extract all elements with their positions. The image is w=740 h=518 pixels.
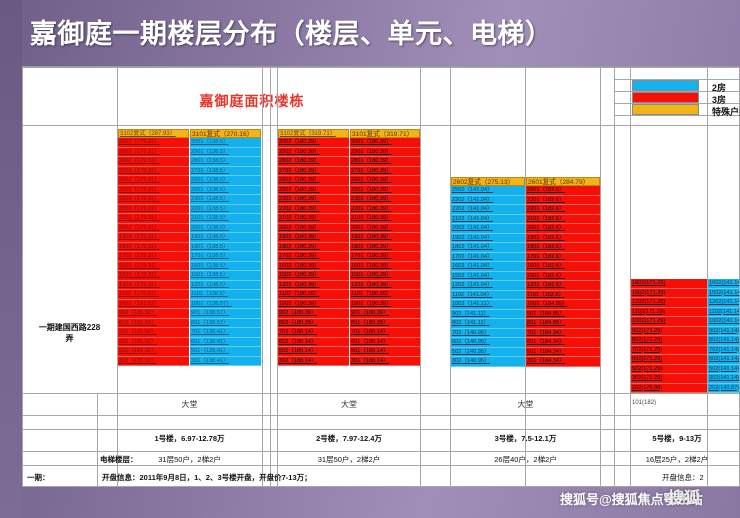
lobby-label-b3: 大堂 bbox=[451, 399, 600, 410]
unit-cell[interactable]: 2702（179.31） bbox=[118, 167, 189, 177]
unit-cell[interactable]: 2801（180.39） bbox=[350, 157, 420, 167]
unit-cell[interactable]: 1002（181.52） bbox=[118, 300, 189, 310]
unit-cell[interactable]: 1002(171.29) bbox=[631, 317, 707, 327]
unit-cell[interactable]: 501（184.34） bbox=[526, 348, 600, 358]
unit-cell[interactable]: 601（138.41） bbox=[190, 338, 261, 348]
unit-cell[interactable]: 2502（180.39） bbox=[278, 186, 349, 196]
unit-cell[interactable]: 1101（182.6） bbox=[526, 291, 600, 301]
unit-cell[interactable]: 602（180.14） bbox=[278, 338, 349, 348]
unit-cell[interactable]: 1002(141.14) bbox=[708, 317, 739, 327]
legend-swatch-2fang bbox=[632, 80, 699, 91]
unit-cell[interactable]: 902（180.39） bbox=[278, 309, 349, 319]
unit-cell[interactable]: 2202（180.39） bbox=[278, 205, 349, 215]
unit-cell[interactable]: 1602（141.04） bbox=[451, 262, 525, 272]
unit-cell-list: 3001（138.5）2901（138.5）2801（138.5）2701（13… bbox=[190, 138, 261, 366]
unit-column-b4-left[interactable]: 1601(171.29)1502(171.29)1202(171.29)1102… bbox=[631, 279, 707, 393]
unit-cell[interactable]: 1102（141.04） bbox=[451, 291, 525, 301]
unit-cell[interactable]: 1502(171.29) bbox=[631, 289, 707, 299]
unit-cell[interactable]: 1201（182.6） bbox=[526, 281, 600, 291]
legend-swatch-special bbox=[632, 104, 699, 115]
unit-cell[interactable]: 1902（141.04） bbox=[451, 234, 525, 244]
grid-hline bbox=[22, 393, 740, 394]
unit-cell[interactable]: 1802（141.04） bbox=[451, 243, 525, 253]
unit-cell-list: 3002（179.31）2902（179.31）2802（179.31）2702… bbox=[118, 138, 189, 366]
legend-swatch-3fang bbox=[632, 92, 699, 103]
unit-cell[interactable]: 802（181.52） bbox=[118, 319, 189, 329]
footer-building-5-detail: 16层25户，2梯2户 bbox=[615, 454, 739, 465]
unit-cell[interactable]: 902（141.11） bbox=[451, 310, 525, 320]
unit-cell[interactable]: 301（184.34） bbox=[526, 357, 600, 367]
unit-cell[interactable]: 2001（180.39） bbox=[350, 224, 420, 234]
unit-cell[interactable]: 1001（184.85） bbox=[526, 300, 600, 310]
unit-cell[interactable]: 2902（180.39） bbox=[278, 148, 349, 158]
unit-cell[interactable]: 802（180.39） bbox=[278, 319, 349, 329]
unit-column-header: 3101复式（319.71） bbox=[350, 129, 420, 138]
unit-cell[interactable]: 2302（141.04） bbox=[451, 196, 525, 206]
unit-cell[interactable]: 501（138.41） bbox=[190, 347, 261, 357]
unit-cell[interactable]: 1602（180.39） bbox=[278, 262, 349, 272]
unit-cell[interactable]: 2501（180.39） bbox=[350, 186, 420, 196]
unit-cell[interactable]: 2102（180.39） bbox=[278, 214, 349, 224]
grid-vline bbox=[97, 393, 98, 487]
unit-cell[interactable]: 701（184.34） bbox=[526, 329, 600, 339]
unit-cell[interactable]: 1601（138.5） bbox=[190, 262, 261, 272]
unit-cell[interactable]: 601（184.34） bbox=[526, 338, 600, 348]
footer-building-3-name: 3号楼，7.5-12.1万 bbox=[451, 433, 600, 444]
unit-cell[interactable]: 2101（180.39） bbox=[350, 214, 420, 224]
unit-column-b3-left[interactable]: 2602复式（275.13） 2502（141.04）2302（141.04）2… bbox=[451, 177, 525, 367]
unit-cell-list: 2502（141.04）2302（141.04）2202（141.04）2102… bbox=[451, 186, 525, 367]
unit-cell[interactable]: 1102（179.31） bbox=[118, 290, 189, 300]
unit-column-b2-right[interactable]: 3101复式（319.71） 3001（180.39）2901（180.39）2… bbox=[350, 129, 420, 366]
unit-cell[interactable]: 1202（141.04） bbox=[451, 281, 525, 291]
unit-cell[interactable]: 1501（182.6） bbox=[526, 272, 600, 282]
unit-cell[interactable]: 1501（138.5） bbox=[190, 271, 261, 281]
unit-cell[interactable]: 2701（180.39） bbox=[350, 167, 420, 177]
unit-cell[interactable]: 702(141.14) bbox=[708, 346, 739, 356]
unit-cell[interactable]: 1602（179.31） bbox=[118, 262, 189, 272]
unit-cell[interactable]: 1601（180.39） bbox=[350, 262, 420, 272]
unit-cell[interactable]: 301（180.14） bbox=[350, 357, 420, 367]
unit-cell[interactable]: 1801（182.6） bbox=[526, 243, 600, 253]
unit-cell[interactable]: 502(171.29) bbox=[631, 365, 707, 375]
grid-hline bbox=[22, 486, 740, 487]
page-title: 嘉御庭一期楼层分布（楼层、单元、电梯） bbox=[30, 12, 720, 58]
unit-cell[interactable]: 701（138.41） bbox=[190, 328, 261, 338]
sheet-title: 嘉御庭面积楼栋 bbox=[22, 91, 482, 111]
unit-cell[interactable]: 1502（180.39） bbox=[278, 271, 349, 281]
spreadsheet-sheet: 嘉御庭面积楼栋 一期建国西路228 弄 bbox=[22, 66, 740, 487]
unit-cell[interactable]: 2001（182.6） bbox=[526, 224, 600, 234]
unit-cell[interactable]: 1502（141.04） bbox=[451, 272, 525, 282]
unit-cell[interactable]: 3001（180.39） bbox=[350, 138, 420, 148]
unit-cell[interactable]: 1502（179.31） bbox=[118, 271, 189, 281]
unit-cell[interactable]: 802(171.29) bbox=[631, 336, 707, 346]
unit-column-header: 3102复式（319.71） bbox=[278, 129, 349, 138]
unit-cell[interactable]: 2302（180.39） bbox=[278, 195, 349, 205]
unit-column-header: 3102复式（287.93） bbox=[118, 129, 189, 138]
unit-cell[interactable]: 1801（138.5） bbox=[190, 243, 261, 253]
grid-vline bbox=[600, 67, 601, 487]
unit-cell[interactable]: 1601（182.6） bbox=[526, 262, 600, 272]
unit-cell[interactable]: 302(171.29) bbox=[631, 374, 707, 384]
grid-vline bbox=[630, 67, 631, 487]
unit-cell-list: 3001（180.39）2901（180.39）2801（180.39）2701… bbox=[350, 138, 420, 366]
unit-cell[interactable]: 202(140.87) bbox=[708, 384, 739, 394]
unit-cell[interactable]: 302（181.02） bbox=[118, 357, 189, 367]
grid-hline bbox=[22, 67, 740, 68]
unit-cell[interactable]: 1202(141.14) bbox=[708, 298, 739, 308]
unit-cell[interactable]: 802（141.11） bbox=[451, 319, 525, 329]
slide-root: 嘉御庭一期楼层分布（楼层、单元、电梯） 嘉御庭面积楼栋 一期建国 bbox=[0, 0, 740, 518]
unit-cell[interactable]: 1601(171.29) bbox=[631, 279, 707, 289]
unit-column-b4-right[interactable]: 1602(141.14)1502(141.14)1202(141.14)1102… bbox=[708, 279, 739, 393]
unit-cell[interactable]: 2201（138.5） bbox=[190, 205, 261, 215]
unit-cell[interactable]: 701（180.14） bbox=[350, 328, 420, 338]
unit-column-header: 2602复式（275.13） bbox=[451, 177, 525, 186]
unit-cell[interactable]: 502（181.02） bbox=[118, 347, 189, 357]
unit-cell[interactable]: 502（140.95） bbox=[451, 348, 525, 358]
unit-cell[interactable]: 602（181.02） bbox=[118, 338, 189, 348]
unit-column-b2-left[interactable]: 3102复式（319.71） 3002（180.39）2902（180.39）2… bbox=[278, 129, 349, 366]
unit-cell[interactable]: 2102（141.04） bbox=[451, 215, 525, 225]
grid-vline bbox=[614, 67, 615, 487]
unit-cell[interactable]: 2002（180.39） bbox=[278, 224, 349, 234]
unit-cell[interactable]: 901（184.85） bbox=[526, 310, 600, 320]
unit-cell[interactable]: 1102(141.14) bbox=[708, 308, 739, 318]
unit-cell[interactable]: 702(171.29) bbox=[631, 346, 707, 356]
unit-cell[interactable]: 1902（180.39） bbox=[278, 233, 349, 243]
unit-cell[interactable]: 2502（179.31） bbox=[118, 186, 189, 196]
unit-cell[interactable]: 802(141.14) bbox=[708, 336, 739, 346]
grid-hline bbox=[22, 451, 740, 452]
unit-cell[interactable]: 2001（138.5） bbox=[190, 224, 261, 234]
footer-building-5-name: 5号楼，9-13万 bbox=[615, 433, 739, 444]
footer-opening-info: 开盘信息：2011年9月8日，1、2、3号楼开盘，开盘价7-13万； bbox=[102, 472, 312, 483]
unit-cell[interactable]: 2901（138.5） bbox=[190, 148, 261, 158]
unit-cell[interactable]: 2501（138.5） bbox=[190, 186, 261, 196]
unit-cell[interactable]: 602(141.14) bbox=[708, 355, 739, 365]
unit-cell[interactable]: 1702（180.39） bbox=[278, 252, 349, 262]
unit-cell[interactable]: 502(141.14) bbox=[708, 365, 739, 375]
unit-cell[interactable]: 501（180.14） bbox=[350, 347, 420, 357]
footer-building-1-detail: 31层50户，2梯2户 bbox=[118, 454, 261, 465]
unit-cell[interactable]: 2501（182.6） bbox=[526, 186, 600, 196]
lobby-label-b2: 大堂 bbox=[278, 399, 420, 410]
unit-cell[interactable]: 1901（182.6） bbox=[526, 234, 600, 244]
unit-cell[interactable]: 2802（180.39） bbox=[278, 157, 349, 167]
unit-cell[interactable]: 2602（180.39） bbox=[278, 176, 349, 186]
unit-cell[interactable]: 1801（180.39） bbox=[350, 243, 420, 253]
unit-cell[interactable]: 2301（180.39） bbox=[350, 195, 420, 205]
grid-hline bbox=[22, 125, 740, 126]
unit-cell[interactable]: 2702（180.39） bbox=[278, 167, 349, 177]
unit-cell[interactable]: 2102（179.31） bbox=[118, 214, 189, 224]
unit-cell-list: 1602(141.14)1502(141.14)1202(141.14)1102… bbox=[708, 279, 739, 393]
unit-cell[interactable]: 2002（179.31） bbox=[118, 224, 189, 234]
unit-cell[interactable]: 2101（182.6） bbox=[526, 215, 600, 225]
unit-cell[interactable]: 1602(141.14) bbox=[708, 279, 739, 289]
unit-column-b1-left[interactable]: 3102复式（287.93） 3002（179.31）2902（179.31）2… bbox=[118, 129, 189, 366]
unit-cell[interactable]: 2101（138.5） bbox=[190, 214, 261, 224]
unit-cell[interactable]: 602（140.95） bbox=[451, 338, 525, 348]
unit-cell[interactable]: 702（180.14） bbox=[278, 328, 349, 338]
footer-building-2-name: 2号楼，7.97-12.4万 bbox=[278, 433, 420, 444]
unit-cell[interactable]: 1802（179.31） bbox=[118, 243, 189, 253]
unit-cell[interactable]: 1201（138.5） bbox=[190, 281, 261, 291]
unit-cell[interactable]: 1202(171.29) bbox=[631, 298, 707, 308]
unit-cell[interactable]: 902(171.29) bbox=[631, 327, 707, 337]
unit-cell[interactable]: 2301（182.6） bbox=[526, 196, 600, 206]
slide-left-accent-bar bbox=[0, 0, 22, 518]
unit-cell[interactable]: 202(176.98) bbox=[631, 384, 707, 394]
row-group-label: 一期建国西路228 弄 bbox=[22, 322, 117, 344]
unit-cell[interactable]: 2202（141.04） bbox=[451, 205, 525, 215]
grid-vline bbox=[270, 67, 271, 487]
footer-opening-info-right: 开盘信息：2 bbox=[662, 472, 704, 483]
unit-column-b3-right[interactable]: 2601复式（284.79） 2501（182.6）2301（182.6）220… bbox=[526, 177, 600, 367]
unit-cell[interactable]: 3001（138.5） bbox=[190, 138, 261, 148]
unit-cell[interactable]: 2601（138.5） bbox=[190, 176, 261, 186]
unit-cell[interactable]: 2201（182.6） bbox=[526, 205, 600, 215]
unit-cell[interactable]: 1702（179.31） bbox=[118, 252, 189, 262]
footer-building-3-detail: 26层40户，2梯2户 bbox=[451, 454, 600, 465]
grid-vline bbox=[707, 67, 708, 487]
unit-cell[interactable]: 901（138.57） bbox=[190, 309, 261, 319]
unit-cell[interactable]: 2801（138.5） bbox=[190, 157, 261, 167]
unit-cell[interactable]: 1202（180.39） bbox=[278, 281, 349, 291]
footer-building-1-name: 1号楼，6.97-12.78万 bbox=[118, 433, 261, 444]
unit-cell[interactable]: 702（140.95） bbox=[451, 329, 525, 339]
unit-column-header: 2601复式（284.79） bbox=[526, 177, 600, 186]
grid-vline bbox=[262, 67, 263, 487]
unit-cell[interactable]: 902（181.52） bbox=[118, 309, 189, 319]
unit-cell[interactable]: 702（181.02） bbox=[118, 328, 189, 338]
unit-cell[interactable]: 2901（180.39） bbox=[350, 148, 420, 158]
unit-cell[interactable]: 1902（179.31） bbox=[118, 233, 189, 243]
unit-cell[interactable]: 302（140.95） bbox=[451, 357, 525, 367]
unit-cell[interactable]: 3002（179.31） bbox=[118, 138, 189, 148]
unit-cell[interactable]: 1102(171.29) bbox=[631, 308, 707, 318]
unit-cell[interactable]: 1501（180.39） bbox=[350, 271, 420, 281]
grid-hline bbox=[22, 415, 740, 416]
unit-cell[interactable]: 1701（182.6） bbox=[526, 253, 600, 263]
unit-cell[interactable]: 302（180.14） bbox=[278, 357, 349, 367]
unit-column-header: 3101复式（270.16） bbox=[190, 129, 261, 138]
unit-cell[interactable]: 1701（138.5） bbox=[190, 252, 261, 262]
unit-cell[interactable]: 1201（180.39） bbox=[350, 281, 420, 291]
unit-cell[interactable]: 502（180.14） bbox=[278, 347, 349, 357]
unit-cell[interactable]: 1202（179.31） bbox=[118, 281, 189, 291]
unit-cell-list: 2501（182.6）2301（182.6）2201（182.6）2101（18… bbox=[526, 186, 600, 367]
unit-cell[interactable]: 1701（180.39） bbox=[350, 252, 420, 262]
unit-cell[interactable]: 2202（179.31） bbox=[118, 205, 189, 215]
unit-cell[interactable]: 801（180.39） bbox=[350, 319, 420, 329]
unit-cell[interactable]: 2002（141.04） bbox=[451, 224, 525, 234]
unit-cell[interactable]: 2302（179.31） bbox=[118, 195, 189, 205]
unit-cell[interactable]: 1002（180.39） bbox=[278, 300, 349, 310]
grid-hline bbox=[22, 465, 740, 466]
grid-hline bbox=[22, 429, 740, 430]
unit-cell[interactable]: 1702（141.04） bbox=[451, 253, 525, 263]
unit-cell[interactable]: 902(141.14) bbox=[708, 327, 739, 337]
unit-cell[interactable]: 1101（138.5） bbox=[190, 290, 261, 300]
unit-cell[interactable]: 2301（138.5） bbox=[190, 195, 261, 205]
unit-cell[interactable]: 301（138.41） bbox=[190, 357, 261, 367]
unit-cell[interactable]: 1001（138.57） bbox=[190, 300, 261, 310]
grid-vline bbox=[420, 67, 421, 487]
unit-cell[interactable]: 2201（180.39） bbox=[350, 205, 420, 215]
unit-cell[interactable]: 2701（138.5） bbox=[190, 167, 261, 177]
unit-cell[interactable]: 901（180.39） bbox=[350, 309, 420, 319]
unit-cell-list: 1601(171.29)1502(171.29)1202(171.29)1102… bbox=[631, 279, 707, 393]
watermark-logo: 搜狐 bbox=[668, 484, 700, 508]
unit-cell[interactable]: 2502（141.04） bbox=[451, 186, 525, 196]
unit-cell[interactable]: 1102（180.39） bbox=[278, 290, 349, 300]
grid-vline bbox=[22, 67, 23, 487]
footer-building-2-detail: 31层50户，2梯2户 bbox=[278, 454, 420, 465]
unit-cell[interactable]: 1802（180.39） bbox=[278, 243, 349, 253]
row-group-label-line1: 一期建国西路228 bbox=[39, 323, 100, 332]
unit-cell[interactable]: 602(171.29) bbox=[631, 355, 707, 365]
unit-cell[interactable]: 1101（180.39） bbox=[350, 290, 420, 300]
unit-cell[interactable]: 801（138.57） bbox=[190, 319, 261, 329]
lobby-label-b1: 大堂 bbox=[118, 399, 261, 410]
row-group-label-line2: 弄 bbox=[66, 334, 74, 343]
unit-cell[interactable]: 2602（179.31） bbox=[118, 176, 189, 186]
legend-label-special: 特殊户型 bbox=[712, 105, 740, 118]
footer-elevator-label: 电梯楼层： bbox=[100, 454, 138, 465]
unit-cell[interactable]: 1002（141.11） bbox=[451, 300, 525, 310]
unit-cell[interactable]: 1001（180.39） bbox=[350, 300, 420, 310]
unit-cell[interactable]: 2601（180.39） bbox=[350, 176, 420, 186]
unit-cell[interactable]: 3002（180.39） bbox=[278, 138, 349, 148]
unit-cell[interactable]: 1901（180.39） bbox=[350, 233, 420, 243]
unit-cell[interactable]: 801（184.85） bbox=[526, 319, 600, 329]
unit-cell[interactable]: 2802（179.31） bbox=[118, 157, 189, 167]
unit-column-b1-right[interactable]: 3101复式（270.16） 3001（138.5）2901（138.5）280… bbox=[190, 129, 261, 366]
unit-cell-list: 3002（180.39）2902（180.39）2802（180.39）2702… bbox=[278, 138, 349, 366]
unit-cell[interactable]: 302(141.14) bbox=[708, 374, 739, 384]
footer-phase-label: 一期： bbox=[27, 472, 50, 483]
unit-cell[interactable]: 1901（138.5） bbox=[190, 233, 261, 243]
unit-cell[interactable]: 1502(141.14) bbox=[708, 289, 739, 299]
unit-cell[interactable]: 601（180.14） bbox=[350, 338, 420, 348]
unit-cell-b4-extra: 101(182) bbox=[632, 400, 656, 406]
unit-cell[interactable]: 2902（179.31） bbox=[118, 148, 189, 158]
